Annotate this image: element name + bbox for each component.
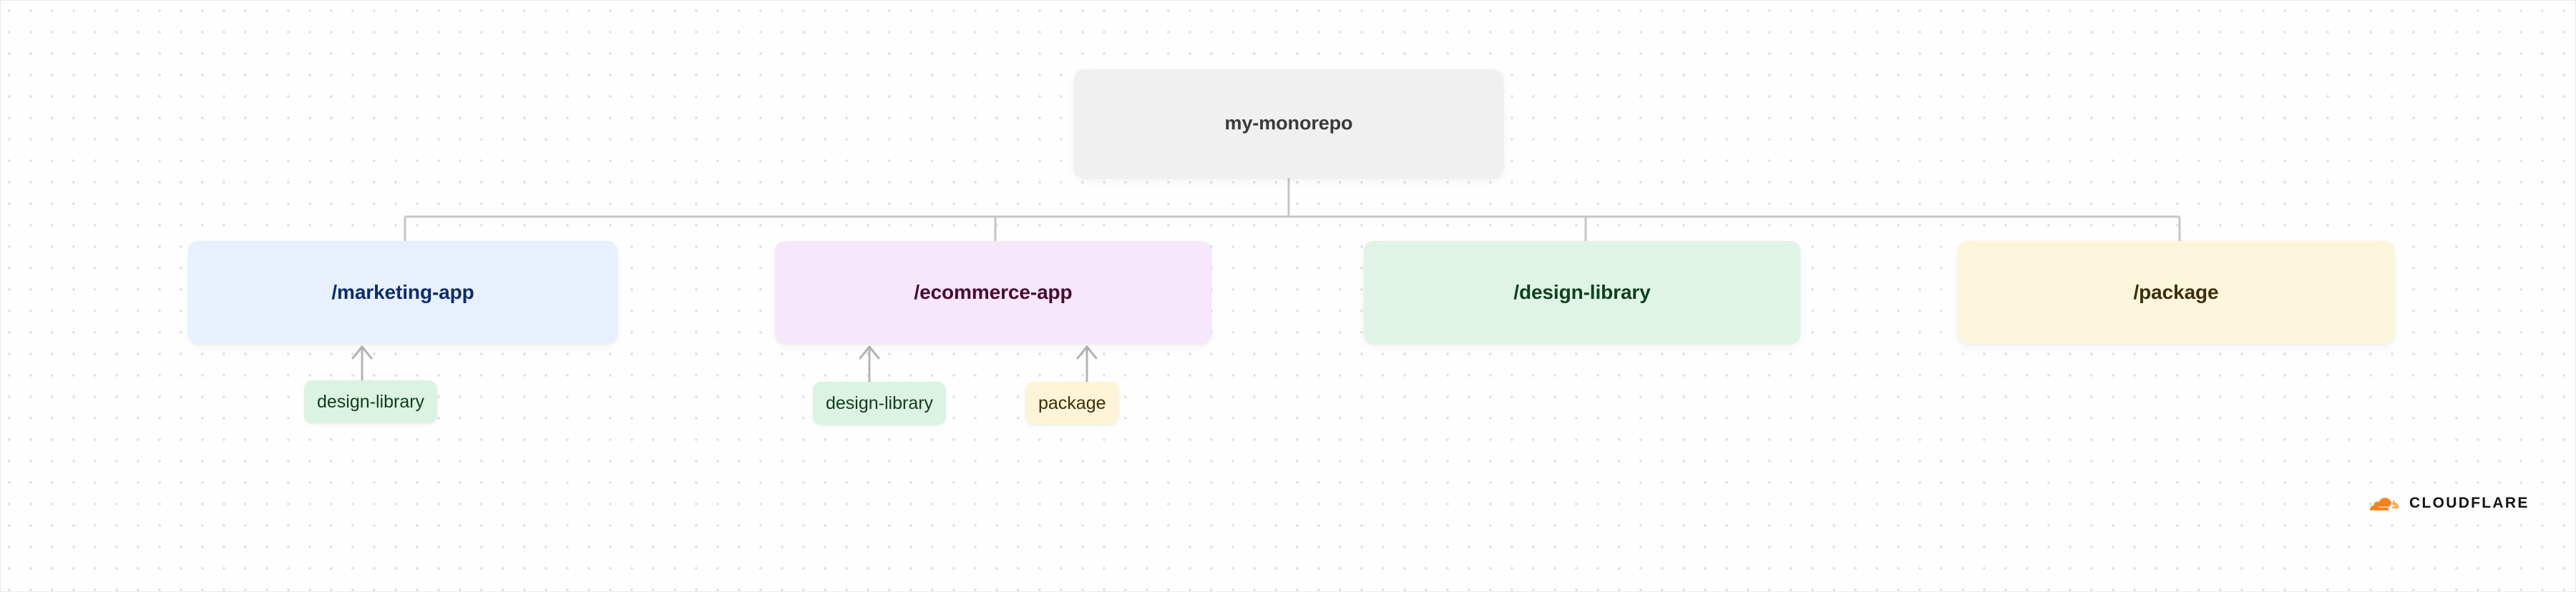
- node-label: /design-library: [1513, 282, 1650, 304]
- dependency-badge-label: design-library: [317, 392, 424, 413]
- arrowhead-ecommerce-designlib: [860, 347, 879, 358]
- cloudflare-wordmark: CLOUDFLARE: [2409, 495, 2529, 510]
- arrowhead-marketing-designlib: [353, 347, 371, 358]
- node-ecommerce-app[interactable]: /ecommerce-app: [775, 241, 1211, 344]
- cloudflare-cloud-icon: [2360, 493, 2401, 513]
- node-package[interactable]: /package: [1958, 241, 2394, 344]
- node-my-monorepo[interactable]: my-monorepo: [1074, 69, 1503, 178]
- cloudflare-logo: CLOUDFLARE: [2360, 493, 2529, 513]
- diagram-canvas: my-monorepo /marketing-app /ecommerce-ap…: [0, 0, 2576, 592]
- dependency-badge-ecommerce-package[interactable]: package: [1025, 382, 1119, 425]
- dependency-badge-label: design-library: [826, 393, 933, 414]
- node-design-library[interactable]: /design-library: [1364, 241, 1800, 344]
- node-label: /ecommerce-app: [914, 282, 1072, 304]
- node-label: /package: [2133, 282, 2218, 304]
- dependency-badge-ecommerce-design-library[interactable]: design-library: [813, 382, 946, 425]
- node-label: /marketing-app: [331, 282, 474, 304]
- dependency-badge-marketing-design-library[interactable]: design-library: [304, 380, 437, 423]
- node-label: my-monorepo: [1225, 113, 1353, 134]
- arrowhead-ecommerce-package: [1078, 347, 1096, 358]
- node-marketing-app[interactable]: /marketing-app: [188, 241, 618, 344]
- dependency-badge-label: package: [1038, 393, 1106, 414]
